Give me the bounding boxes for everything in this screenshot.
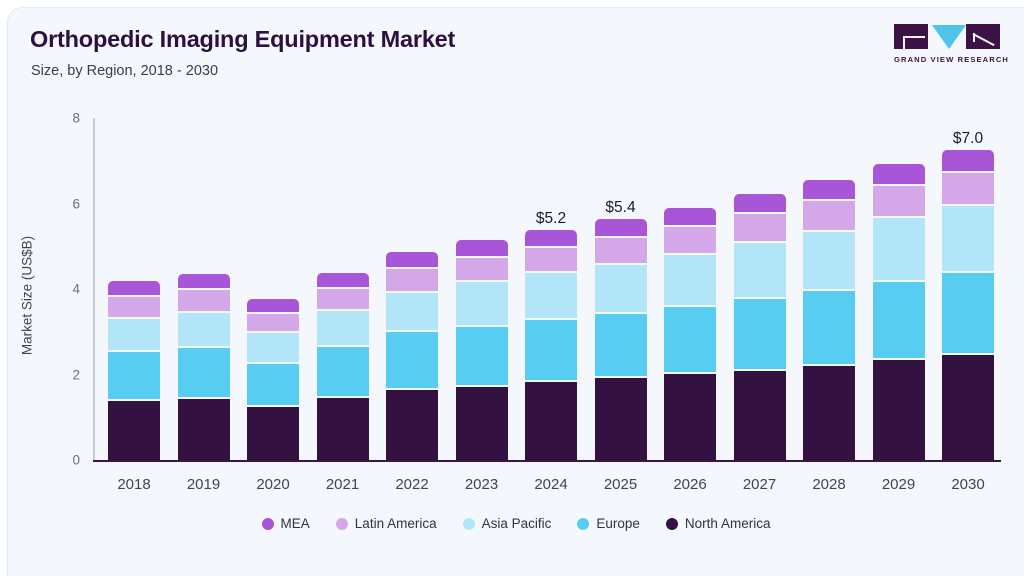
bar-segment-mea[interactable]: [108, 281, 160, 295]
x-axis-tick-label: 2029: [863, 476, 935, 493]
bar-segment-latin-america[interactable]: [595, 238, 647, 262]
bar-segment-europe[interactable]: [317, 347, 369, 396]
bar-segment-europe[interactable]: [734, 299, 786, 369]
bar-segment-latin-america[interactable]: [178, 290, 230, 311]
x-axis-tick-label: 2028: [793, 476, 865, 493]
bar-segment-north-america[interactable]: [178, 399, 230, 460]
bar-group[interactable]: [803, 180, 855, 460]
chart-card: Orthopedic Imaging Equipment Market Size…: [8, 8, 1024, 576]
bar-segment-north-america[interactable]: [456, 387, 508, 460]
bar-segment-mea[interactable]: [942, 150, 994, 171]
bar-group[interactable]: [456, 240, 508, 460]
bar-group[interactable]: [525, 230, 577, 460]
bar-segment-north-america[interactable]: [734, 371, 786, 460]
chart-legend: MEALatin AmericaAsia PacificEuropeNorth …: [8, 516, 1024, 531]
bar-segment-mea[interactable]: [386, 252, 438, 267]
bar-segment-mea[interactable]: [664, 208, 716, 226]
bar-segment-asia-pacific[interactable]: [942, 206, 994, 271]
bar-segment-mea[interactable]: [178, 274, 230, 289]
bar-segment-europe[interactable]: [108, 352, 160, 399]
y-axis-tick-label: 8: [54, 111, 80, 126]
bar-group[interactable]: [108, 281, 160, 460]
legend-label: Europe: [596, 516, 640, 531]
legend-label: Asia Pacific: [482, 516, 552, 531]
bar-segment-latin-america[interactable]: [108, 297, 160, 317]
bar-segment-latin-america[interactable]: [942, 173, 994, 204]
bar-segment-asia-pacific[interactable]: [595, 265, 647, 312]
screenshot-root: Orthopedic Imaging Equipment Market Size…: [0, 0, 1024, 576]
bar-segment-latin-america[interactable]: [803, 201, 855, 230]
x-axis-tick-label: 2024: [515, 476, 587, 493]
y-axis-title: Market Size (US$B): [20, 156, 35, 436]
bar-segment-mea[interactable]: [525, 230, 577, 246]
y-axis-tick-label: 4: [54, 282, 80, 297]
bar-group[interactable]: [178, 274, 230, 460]
bar-segment-asia-pacific[interactable]: [664, 255, 716, 305]
bar-group[interactable]: [317, 273, 369, 460]
legend-swatch-icon: [262, 518, 274, 530]
bar-segment-mea[interactable]: [734, 194, 786, 212]
bar-segment-north-america[interactable]: [664, 374, 716, 460]
bar-segment-europe[interactable]: [386, 332, 438, 388]
bar-segment-europe[interactable]: [525, 320, 577, 380]
bar-segment-asia-pacific[interactable]: [456, 282, 508, 324]
bar-segment-asia-pacific[interactable]: [108, 319, 160, 350]
bar-group[interactable]: [595, 219, 647, 460]
bar-segment-europe[interactable]: [595, 314, 647, 376]
bar-segment-mea[interactable]: [247, 299, 299, 311]
bar-segment-mea[interactable]: [873, 164, 925, 184]
bar-segment-europe[interactable]: [178, 348, 230, 397]
legend-item[interactable]: MEA: [262, 516, 310, 531]
bar-segment-europe[interactable]: [803, 291, 855, 364]
x-axis-tick-label: 2019: [168, 476, 240, 493]
bar-segment-north-america[interactable]: [595, 378, 647, 460]
x-axis-tick-label: 2022: [376, 476, 448, 493]
bar-segment-north-america[interactable]: [525, 382, 577, 460]
bar-segment-europe[interactable]: [456, 327, 508, 385]
bar-segment-asia-pacific[interactable]: [317, 311, 369, 345]
x-axis-tick-label: 2030: [932, 476, 1004, 493]
bar-segment-north-america[interactable]: [247, 407, 299, 460]
legend-swatch-icon: [577, 518, 589, 530]
y-axis-tick-label: 2: [54, 367, 80, 382]
y-axis-tick-label: 6: [54, 196, 80, 211]
x-axis-tick-label: 2023: [446, 476, 518, 493]
bar-segment-mea[interactable]: [595, 219, 647, 236]
bar-group[interactable]: [386, 252, 438, 460]
bar-total-label: $5.4: [581, 199, 661, 217]
bar-segment-latin-america[interactable]: [664, 227, 716, 253]
bar-group[interactable]: [664, 208, 716, 461]
bar-segment-asia-pacific[interactable]: [178, 313, 230, 346]
legend-label: MEA: [281, 516, 310, 531]
bar-segment-europe[interactable]: [873, 282, 925, 358]
bar-group[interactable]: [942, 150, 994, 460]
legend-label: North America: [685, 516, 771, 531]
bar-segment-europe[interactable]: [664, 307, 716, 372]
stacked-bar-chart: Market Size (US$B) 02468 201820192020202…: [8, 8, 1024, 576]
bar-segment-north-america[interactable]: [386, 390, 438, 460]
legend-item[interactable]: Asia Pacific: [463, 516, 552, 531]
bar-segment-mea[interactable]: [456, 240, 508, 256]
bar-segment-mea[interactable]: [803, 180, 855, 199]
x-axis-tick-label: 2018: [98, 476, 170, 493]
bar-segment-north-america[interactable]: [942, 355, 994, 460]
bar-total-label: $7.0: [928, 130, 1008, 148]
bar-segment-north-america[interactable]: [803, 366, 855, 460]
bar-segment-latin-america[interactable]: [386, 269, 438, 291]
bar-segment-asia-pacific[interactable]: [734, 243, 786, 296]
bar-segment-latin-america[interactable]: [734, 214, 786, 241]
bar-segment-mea[interactable]: [317, 273, 369, 287]
bar-segment-latin-america[interactable]: [873, 186, 925, 216]
x-axis-tick-label: 2025: [585, 476, 657, 493]
legend-label: Latin America: [355, 516, 437, 531]
bar-segment-north-america[interactable]: [317, 398, 369, 460]
bar-group[interactable]: [873, 164, 925, 460]
legend-swatch-icon: [336, 518, 348, 530]
bar-segment-asia-pacific[interactable]: [525, 273, 577, 318]
x-axis-tick-label: 2021: [307, 476, 379, 493]
bar-segment-asia-pacific[interactable]: [386, 293, 438, 331]
x-axis-tick-label: 2020: [237, 476, 309, 493]
bar-segment-north-america[interactable]: [108, 401, 160, 460]
legend-swatch-icon: [666, 518, 678, 530]
bar-segment-europe[interactable]: [942, 273, 994, 353]
bar-segment-asia-pacific[interactable]: [873, 218, 925, 280]
y-axis-line: [93, 118, 95, 460]
bar-total-label: $5.2: [511, 210, 591, 228]
legend-swatch-icon: [463, 518, 475, 530]
bar-group[interactable]: [247, 299, 299, 460]
bar-segment-north-america[interactable]: [873, 360, 925, 460]
bar-group[interactable]: [734, 194, 786, 460]
bar-segment-asia-pacific[interactable]: [247, 333, 299, 361]
bar-segment-latin-america[interactable]: [317, 289, 369, 309]
y-axis-tick-label: 0: [54, 453, 80, 468]
legend-item[interactable]: North America: [666, 516, 771, 531]
bar-segment-latin-america[interactable]: [456, 258, 508, 280]
x-axis-tick-label: 2026: [654, 476, 726, 493]
legend-item[interactable]: Europe: [577, 516, 640, 531]
bar-segment-latin-america[interactable]: [247, 314, 299, 332]
bar-segment-latin-america[interactable]: [525, 248, 577, 272]
x-axis-line: [93, 460, 1001, 462]
x-axis-tick-label: 2027: [724, 476, 796, 493]
bar-segment-europe[interactable]: [247, 364, 299, 405]
legend-item[interactable]: Latin America: [336, 516, 437, 531]
bar-segment-asia-pacific[interactable]: [803, 232, 855, 289]
